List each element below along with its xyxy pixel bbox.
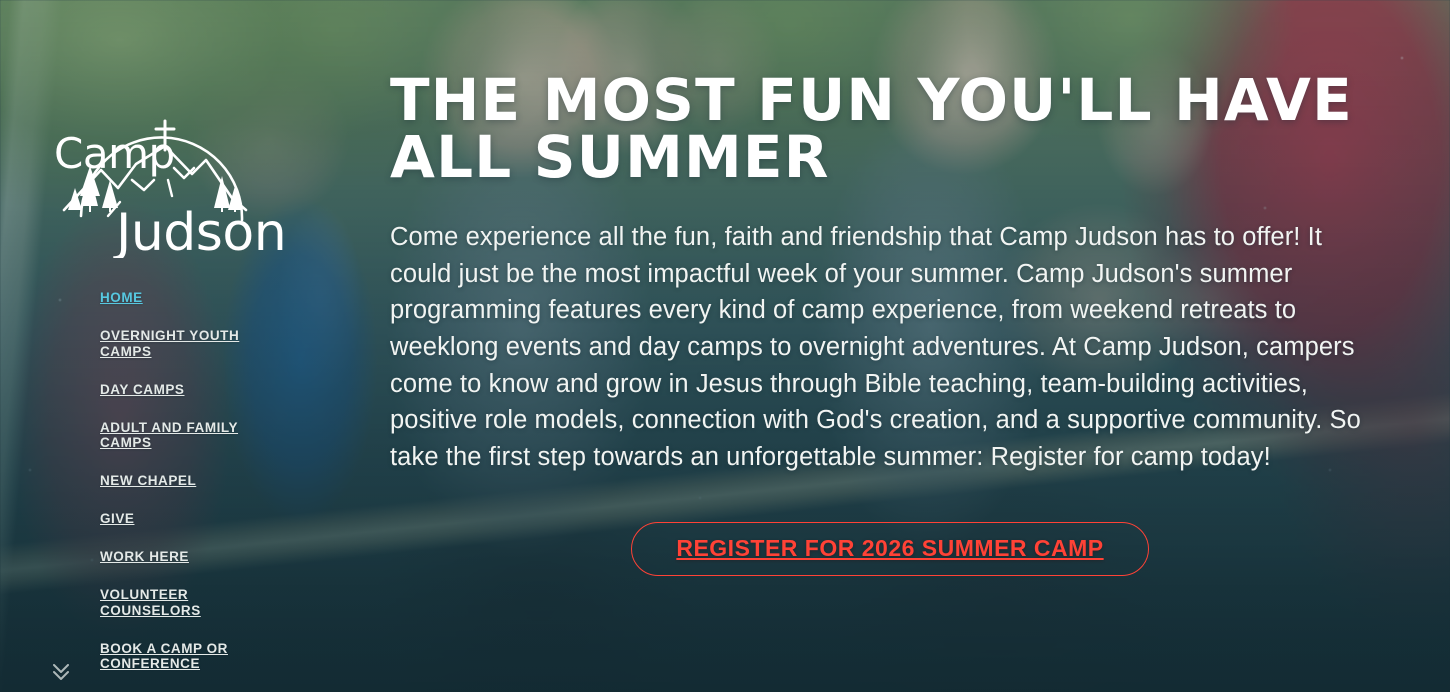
site-logo[interactable]: Camp Judson xyxy=(46,88,294,258)
svg-text:Camp: Camp xyxy=(54,129,175,178)
sidebar-item-adult-and-family-camps[interactable]: ADULT AND FAMILY CAMPS xyxy=(100,420,315,451)
sidebar-item-work-here[interactable]: WORK HERE xyxy=(100,549,315,565)
sidebar-item-day-camps[interactable]: DAY CAMPS xyxy=(100,382,315,398)
hero-content: THE MOST FUN YOU'LL HAVE ALL SUMMER Come… xyxy=(390,72,1390,576)
register-button[interactable]: REGISTER FOR 2026 SUMMER CAMP xyxy=(631,522,1148,576)
main-navigation[interactable]: HOME OVERNIGHT YOUTH CAMPS DAY CAMPS ADU… xyxy=(100,290,315,692)
hero-body-text: Come experience all the fun, faith and f… xyxy=(390,219,1390,476)
sidebar-item-book-a-camp-or-conference[interactable]: BOOK A CAMP OR CONFERENCE xyxy=(100,641,315,672)
svg-text:Judson: Judson xyxy=(113,203,286,258)
camp-judson-mountain-cross-circle-logo: Camp Judson xyxy=(46,88,294,258)
double-chevron-down-icon[interactable] xyxy=(50,659,72,683)
cta-container: REGISTER FOR 2026 SUMMER CAMP xyxy=(390,522,1390,576)
hero-page: Camp Judson HOME OVERNIGHT YOUTH CAMPS D… xyxy=(0,0,1450,692)
sidebar-item-home[interactable]: HOME xyxy=(100,290,315,306)
sidebar-item-give[interactable]: GIVE xyxy=(100,511,315,527)
sidebar-item-new-chapel[interactable]: NEW CHAPEL xyxy=(100,473,315,489)
sidebar-item-overnight-youth-camps[interactable]: OVERNIGHT YOUTH CAMPS xyxy=(100,328,315,359)
page-title: THE MOST FUN YOU'LL HAVE ALL SUMMER xyxy=(390,72,1390,187)
sidebar-item-volunteer-counselors[interactable]: VOLUNTEER COUNSELORS xyxy=(100,587,315,618)
